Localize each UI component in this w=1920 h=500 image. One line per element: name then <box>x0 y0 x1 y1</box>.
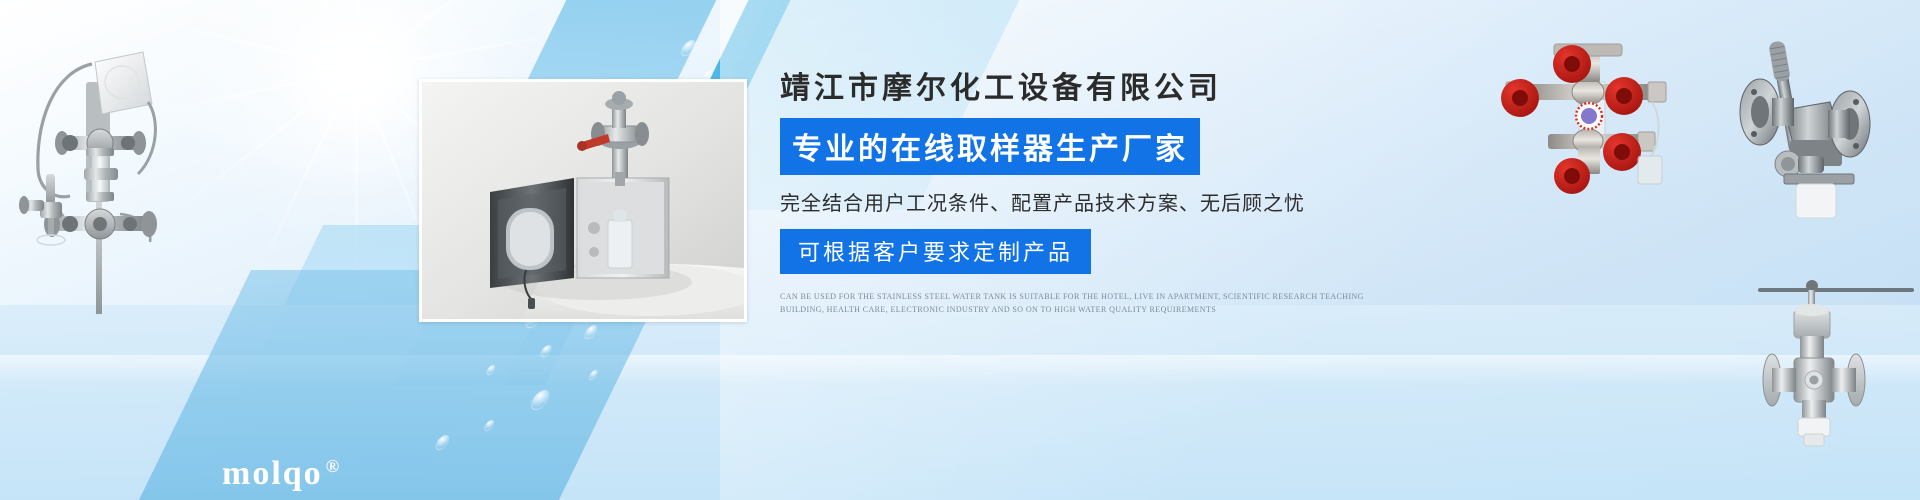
left-sampler-product-image <box>0 24 180 314</box>
banner-text-block: 靖江市摩尔化工设备有限公司 专业的在线取样器生产厂家 完全结合用户工况条件、配置… <box>780 72 1400 316</box>
registered-mark-icon: ® <box>326 456 341 476</box>
sampling-valve-product-image <box>1756 262 1916 452</box>
company-name: 靖江市摩尔化工设备有限公司 <box>780 72 1400 105</box>
red-handwheel <box>1603 133 1641 171</box>
promo-banner: 靖江市摩尔化工设备有限公司 专业的在线取样器生产厂家 完全结合用户工况条件、配置… <box>0 0 1920 500</box>
brand-logo: molqo® <box>222 455 341 493</box>
valve-manifold-product-image <box>1482 26 1702 186</box>
english-description: CAN BE USED FOR THE STAINLESS STEEL WATE… <box>780 290 1380 316</box>
lever-valve-product-image <box>1698 22 1920 222</box>
certification-seal-icon <box>1575 102 1603 130</box>
red-handwheel <box>1554 158 1590 194</box>
red-handwheel <box>1605 77 1643 115</box>
water-horizon-line <box>0 355 1920 385</box>
tagline-banner: 可根据客户要求定制产品 <box>780 229 1091 274</box>
headline-banner: 专业的在线取样器生产厂家 <box>780 118 1200 175</box>
subline-text: 完全结合用户工况条件、配置产品技术方案、无后顾之忧 <box>780 187 1400 216</box>
red-handwheel <box>1553 45 1591 83</box>
center-product-photo <box>419 79 747 322</box>
brand-logo-text: molqo <box>222 455 323 492</box>
red-handwheel <box>1501 79 1539 117</box>
